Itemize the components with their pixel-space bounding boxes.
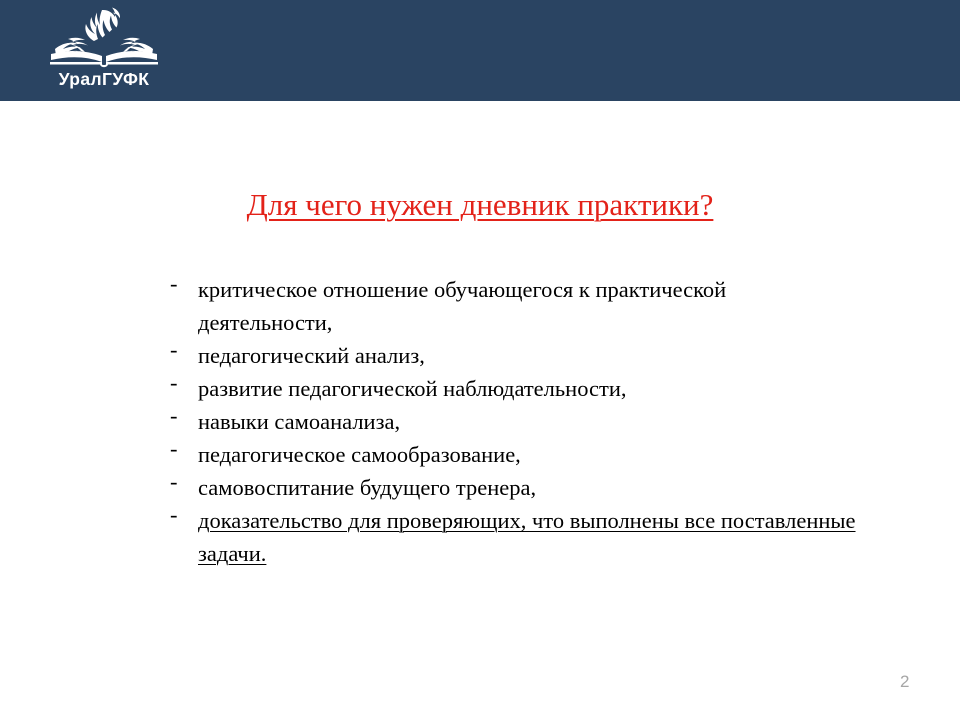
list-item: - доказательство для проверяющих, что вы… (168, 504, 858, 570)
dash-bullet-icon: - (170, 405, 188, 427)
dash-bullet-icon: - (170, 273, 188, 295)
open-book-with-birds-icon (46, 6, 162, 68)
list-item-label: развитие педагогической наблюдательности… (198, 376, 627, 401)
list-item: -самовоспитание будущего тренера, (168, 471, 858, 504)
dash-bullet-icon: - (170, 438, 188, 460)
logo-wordmark: УралГУФК (46, 68, 162, 90)
bullet-list: -критическое отношение обучающегося к пр… (168, 273, 858, 570)
dash-bullet-icon: - (170, 504, 188, 526)
list-item-label: доказательство для проверяющих, что выпо… (198, 508, 856, 566)
slide-header-bar: УралГУФК (0, 0, 960, 101)
page-title: Для чего нужен дневник практики? (0, 186, 960, 224)
list-item: -педагогическое самообразование, (168, 438, 858, 471)
page-title-text: Для чего нужен дневник практики? (247, 187, 714, 222)
list-item-label: критическое отношение обучающегося к пра… (198, 277, 726, 335)
dash-bullet-icon: - (170, 372, 188, 394)
uralgufk-logo: УралГУФК (46, 6, 162, 98)
page-number: 2 (900, 672, 940, 692)
list-item: -навыки самоанализа, (168, 405, 858, 438)
list-item: -педагогический анализ, (168, 339, 858, 372)
list-item: -развитие педагогической наблюдательност… (168, 372, 858, 405)
list-item-label: самовоспитание будущего тренера, (198, 475, 536, 500)
list-item-label: навыки самоанализа, (198, 409, 400, 434)
dash-bullet-icon: - (170, 339, 188, 361)
slide: УралГУФК Для чего нужен дневник практики… (0, 0, 960, 720)
list-item: -критическое отношение обучающегося к пр… (168, 273, 858, 339)
dash-bullet-icon: - (170, 471, 188, 493)
list-item-label: педагогическое самообразование, (198, 442, 521, 467)
list-item-label: педагогический анализ, (198, 343, 425, 368)
